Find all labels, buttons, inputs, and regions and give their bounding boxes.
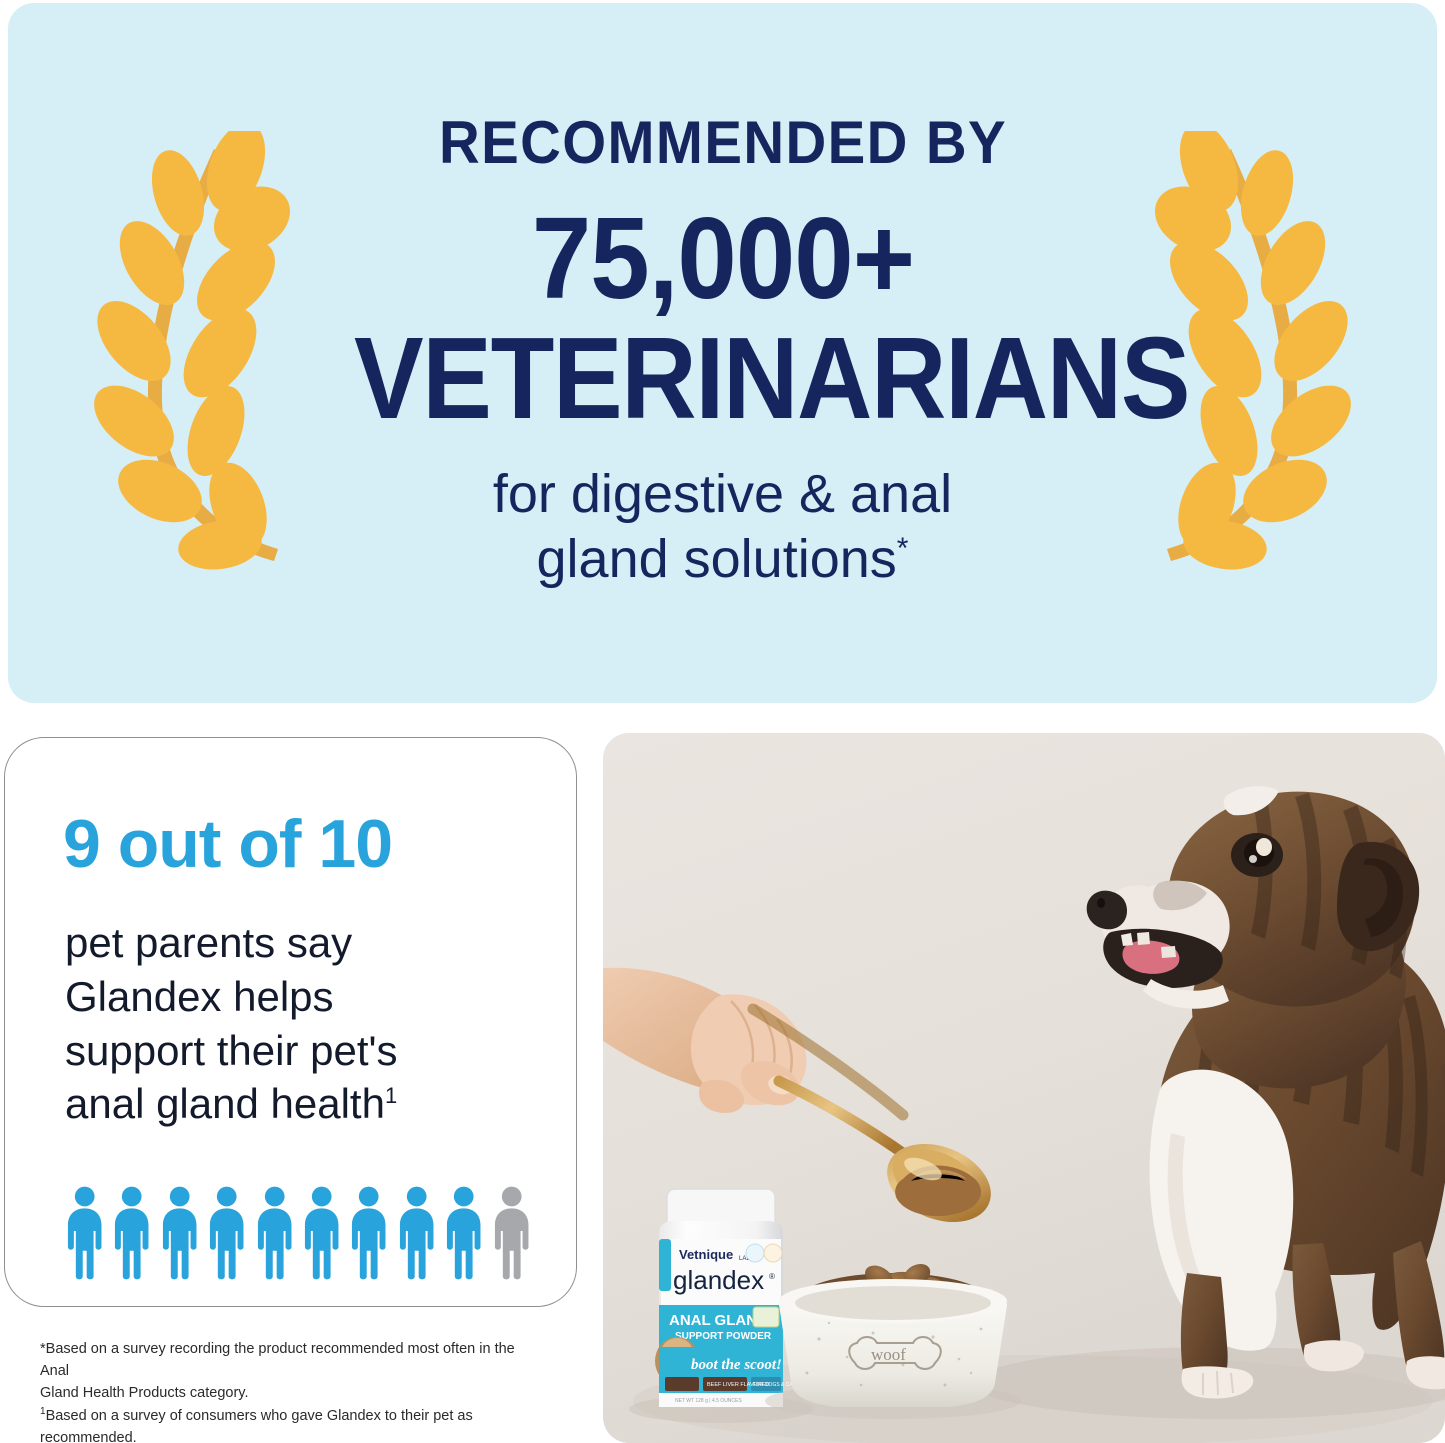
footnote-line-1: *Based on a survey recording the product…: [40, 1338, 540, 1382]
footnotes: *Based on a survey recording the product…: [40, 1338, 540, 1443]
bowl-text: woof: [871, 1345, 906, 1364]
product-lifestyle-photo: Vetnique LABS glandex ® ANAL GLAND SUPPO…: [603, 733, 1445, 1443]
stat-body-line2: Glandex helps: [65, 973, 334, 1020]
banner-subtitle-line1: for digestive & anal: [493, 464, 952, 524]
stat-body-line3: support their pet's: [65, 1027, 398, 1074]
banner-subtitle-marker: *: [897, 532, 909, 565]
stat-body-text: pet parents say Glandex helps support th…: [65, 916, 535, 1131]
bottle-product-name: glandex: [673, 1265, 764, 1295]
banner-text-block: RECOMMENDED BY 75,000+ VETERINARIANS for…: [313, 113, 1133, 594]
stat-body-marker: 1: [385, 1083, 397, 1108]
stat-headline: 9 out of 10: [63, 810, 392, 878]
person-figure-icon: [442, 1185, 485, 1281]
bottle-brand-text: Vetnique: [679, 1247, 733, 1262]
person-figure-icon: [300, 1185, 343, 1281]
person-figure-icon: [395, 1185, 438, 1281]
footnote-line-3-text: Based on a survey of consumers who gave …: [40, 1408, 473, 1443]
svg-text:NET WT 128 g | 4.5 OUNCES: NET WT 128 g | 4.5 OUNCES: [675, 1398, 742, 1404]
person-figure-icon: [490, 1185, 533, 1281]
svg-text:®: ®: [769, 1272, 775, 1281]
banner-eyebrow: RECOMMENDED BY: [337, 113, 1108, 173]
statistic-card: 9 out of 10 pet parents say Glandex help…: [4, 737, 577, 1307]
banner-subtitle-line2: gland solutions: [537, 529, 897, 589]
bottle-line2: SUPPORT POWDER: [675, 1331, 772, 1342]
stat-body-line4: anal gland health: [65, 1080, 385, 1127]
person-figure-icon: [205, 1185, 248, 1281]
marketing-infographic: RECOMMENDED BY 75,000+ VETERINARIANS for…: [0, 0, 1445, 1443]
person-figure-icon: [110, 1185, 153, 1281]
banner-subtitle: for digestive & anal gland solutions*: [313, 462, 1133, 594]
footnote-line-2: Gland Health Products category.: [40, 1382, 540, 1404]
bottle-tagline: boot the scoot!: [691, 1357, 782, 1373]
recommendation-banner: RECOMMENDED BY 75,000+ VETERINARIANS for…: [8, 3, 1437, 703]
photo-illustration: Vetnique LABS glandex ® ANAL GLAND SUPPO…: [603, 733, 1445, 1443]
person-figure-icon: [347, 1185, 390, 1281]
dog-eye: [1231, 833, 1283, 877]
people-pictogram: [63, 1181, 533, 1281]
banner-keyword: VETERINARIANS: [354, 320, 1092, 436]
stat-body-line1: pet parents say: [65, 919, 352, 966]
banner-number: 75,000+: [345, 197, 1099, 320]
person-figure-icon: [63, 1185, 106, 1281]
footnote-line-3: 1Based on a survey of consumers who gave…: [40, 1404, 540, 1443]
person-figure-icon: [158, 1185, 201, 1281]
person-figure-icon: [253, 1185, 296, 1281]
